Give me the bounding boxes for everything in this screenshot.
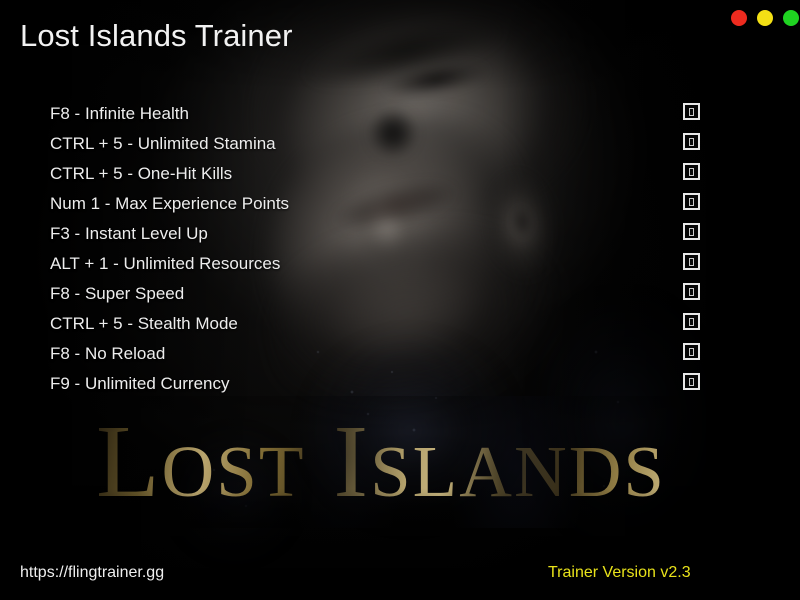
game-logo: Lost Islands [96, 396, 728, 528]
cheat-label: F8 - Super Speed [50, 284, 184, 304]
cheat-row[interactable]: F8 - Super Speed [50, 279, 710, 309]
minimize-button[interactable] [757, 10, 773, 26]
cheat-toggle-checkbox[interactable] [683, 223, 700, 240]
cheat-row[interactable]: CTRL + 5 - Stealth Mode [50, 309, 710, 339]
cheat-label: F8 - No Reload [50, 344, 165, 364]
cheat-row[interactable]: CTRL + 5 - One-Hit Kills [50, 159, 710, 189]
close-button[interactable] [731, 10, 747, 26]
checkbox-inner-icon [689, 138, 694, 146]
cheat-row[interactable]: F8 - No Reload [50, 339, 710, 369]
cheat-label: Num 1 - Max Experience Points [50, 194, 289, 214]
cheat-row[interactable]: Num 1 - Max Experience Points [50, 189, 710, 219]
cheat-toggle-checkbox[interactable] [683, 283, 700, 300]
trainer-window: Lost Islands Trainer F8 - Infinite Healt… [0, 0, 800, 600]
cheat-label: CTRL + 5 - Unlimited Stamina [50, 134, 276, 154]
cheat-row[interactable]: F8 - Infinite Health [50, 99, 710, 129]
website-url[interactable]: https://flingtrainer.gg [20, 564, 164, 582]
cheat-row[interactable]: ALT + 1 - Unlimited Resources [50, 249, 710, 279]
checkbox-inner-icon [689, 228, 694, 236]
checkbox-inner-icon [689, 378, 694, 386]
checkbox-inner-icon [689, 258, 694, 266]
maximize-button[interactable] [783, 10, 799, 26]
cheat-toggle-checkbox[interactable] [683, 253, 700, 270]
cheat-toggle-checkbox[interactable] [683, 133, 700, 150]
checkbox-inner-icon [689, 318, 694, 326]
cheat-toggle-checkbox[interactable] [683, 193, 700, 210]
checkbox-inner-icon [689, 168, 694, 176]
checkbox-inner-icon [689, 288, 694, 296]
cheat-label: CTRL + 5 - Stealth Mode [50, 314, 238, 334]
cheat-label: F8 - Infinite Health [50, 104, 189, 124]
cheat-label: F9 - Unlimited Currency [50, 374, 230, 394]
checkbox-inner-icon [689, 198, 694, 206]
cheat-toggle-checkbox[interactable] [683, 373, 700, 390]
cheat-label: CTRL + 5 - One-Hit Kills [50, 164, 232, 184]
cheat-toggle-checkbox[interactable] [683, 343, 700, 360]
cheat-row[interactable]: CTRL + 5 - Unlimited Stamina [50, 129, 710, 159]
cheat-label: ALT + 1 - Unlimited Resources [50, 254, 280, 274]
cheat-row[interactable]: F9 - Unlimited Currency [50, 369, 710, 399]
checkbox-inner-icon [689, 108, 694, 116]
cheat-list: F8 - Infinite HealthCTRL + 5 - Unlimited… [50, 99, 710, 399]
cheat-toggle-checkbox[interactable] [683, 313, 700, 330]
cheat-label: F3 - Instant Level Up [50, 224, 208, 244]
checkbox-inner-icon [689, 348, 694, 356]
version-label: Trainer Version v2.3 [548, 564, 691, 582]
cheat-row[interactable]: F3 - Instant Level Up [50, 219, 710, 249]
window-controls [731, 10, 799, 26]
page-title: Lost Islands Trainer [20, 18, 293, 54]
cheat-toggle-checkbox[interactable] [683, 163, 700, 180]
cheat-toggle-checkbox[interactable] [683, 103, 700, 120]
